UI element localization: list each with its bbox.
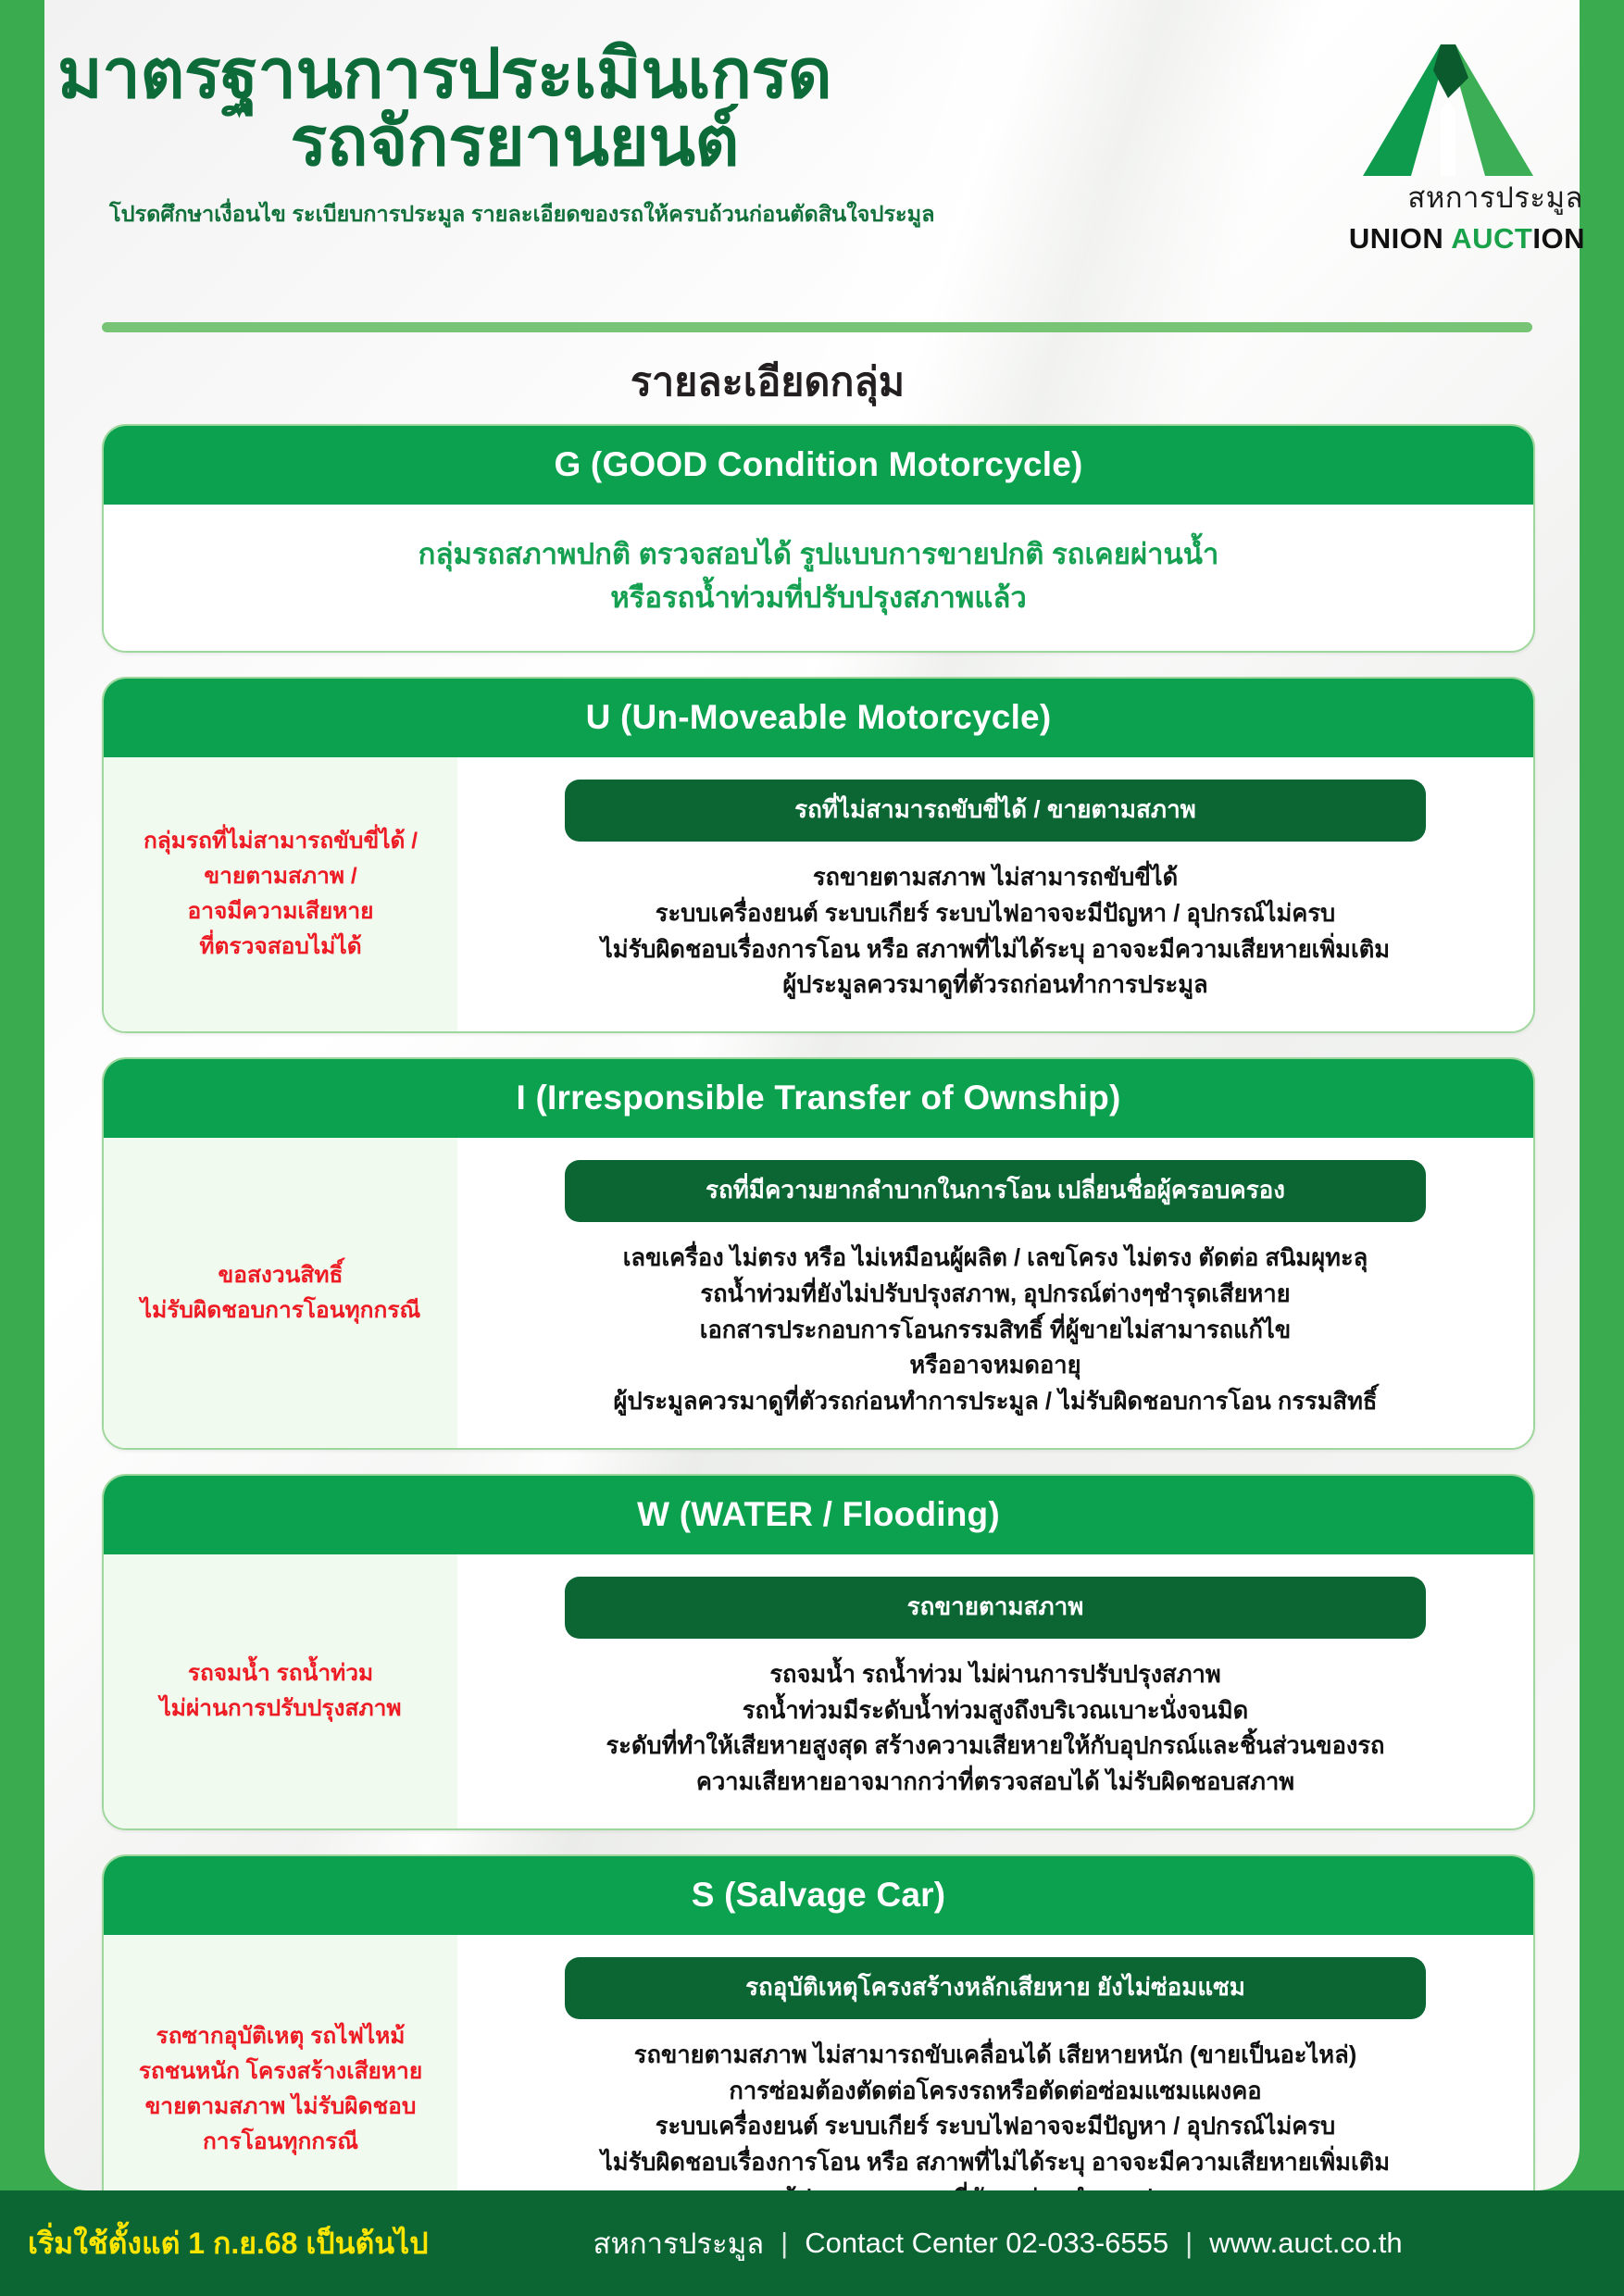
detail-line: ผู้ประมูลควรมาดูที่ตัวรถก่อนทำการประมูล …	[480, 1384, 1511, 1420]
summary-line: การโอนทุกกรณี	[139, 2125, 422, 2160]
grade-card-w: W (WATER / Flooding)รถจมน้ำ รถน้ำท่วมไม่…	[102, 1474, 1535, 1830]
grade-card-body: กลุ่มรถที่ไม่สามารถขับขี่ได้ /ขายตามสภาพ…	[104, 757, 1533, 1031]
detail-line: เอกสารประกอบการโอนกรรมสิทธิ์ ที่ผู้ขายไม…	[480, 1313, 1511, 1349]
logo-en-ion: ION	[1532, 222, 1585, 255]
footer-brand: สหการประมูล	[593, 2220, 765, 2266]
title-block: มาตรฐานการประเมินเกรด รถจักรยานยนต์ โปรด…	[57, 31, 935, 231]
detail-line: ระบบเครื่องยนต์ ระบบเกียร์ ระบบไฟอาจจะมี…	[480, 896, 1511, 932]
detail-line: หรืออาจหมดอายุ	[480, 1348, 1511, 1384]
description-line: กลุ่มรถสภาพปกติ ตรวจสอบได้ รูปแบบการขายป…	[159, 532, 1478, 576]
summary-text: รถจมน้ำ รถน้ำท่วมไม่ผ่านการปรับปรุงสภาพ	[159, 1656, 401, 1727]
header: มาตรฐานการประเมินเกรด รถจักรยานยนต์ โปรด…	[0, 0, 1624, 256]
grade-card-s: S (Salvage Car)รถซากอุบัติเหตุ รถไฟไหม้ร…	[102, 1854, 1535, 2247]
union-auction-logo: สหการประมูล UNION AUCTION	[1309, 31, 1587, 256]
grade-card-header: I (Irresponsible Transfer of Ownship)	[104, 1059, 1533, 1138]
page-title-line-1: มาตรฐานการประเมินเกรด	[57, 41, 935, 108]
grade-card-i: I (Irresponsible Transfer of Ownship)ขอส…	[102, 1057, 1535, 1450]
logo-thai-name: สหการประมูล	[1309, 174, 1587, 220]
detail-text: รถขายตามสภาพ ไม่สามารถขับขี่ได้ระบบเครื่…	[480, 860, 1511, 1004]
grade-card-summary-pane: กลุ่มรถที่ไม่สามารถขับขี่ได้ /ขายตามสภาพ…	[104, 757, 457, 1031]
grade-card-header: W (WATER / Flooding)	[104, 1476, 1533, 1554]
detail-line: รถขายตามสภาพ ไม่สามารถขับเคลื่อนได้ เสีย…	[480, 2038, 1511, 2074]
section-title: รายละเอียดกลุ่ม	[0, 350, 1535, 413]
summary-line: ไม่ผ่านการปรับปรุงสภาพ	[159, 1691, 401, 1727]
footer-separator-2: |	[1185, 2227, 1193, 2260]
summary-text: ขอสงวนสิทธิ์ไม่รับผิดชอบการโอนทุกกรณี	[141, 1258, 420, 1329]
grade-card-body: รถจมน้ำ รถน้ำท่วมไม่ผ่านการปรับปรุงสภาพร…	[104, 1554, 1533, 1828]
grade-card-header: S (Salvage Car)	[104, 1856, 1533, 1935]
footer-contact-block: สหการประมูล | Contact Center 02-033-6555…	[593, 2220, 1403, 2266]
page-subtitle: โปรดศึกษาเงื่อนไข ระเบียบการประมูล รายละ…	[57, 197, 935, 231]
detail-line: รถจมน้ำ รถน้ำท่วม ไม่ผ่านการปรับปรุงสภาพ	[480, 1657, 1511, 1693]
grade-card-body: ขอสงวนสิทธิ์ไม่รับผิดชอบการโอนทุกกรณีรถท…	[104, 1138, 1533, 1448]
detail-text: รถจมน้ำ รถน้ำท่วม ไม่ผ่านการปรับปรุงสภาพ…	[480, 1657, 1511, 1801]
detail-line: ไม่รับผิดชอบเรื่องการโอน หรือ สภาพที่ไม่…	[480, 932, 1511, 968]
summary-line: ขอสงวนสิทธิ์	[141, 1258, 420, 1293]
summary-text: กลุ่มรถที่ไม่สามารถขับขี่ได้ /ขายตามสภาพ…	[144, 824, 418, 965]
summary-line: ไม่รับผิดชอบการโอนทุกกรณี	[141, 1293, 420, 1329]
logo-en-name: UNION AUCTION	[1309, 222, 1587, 256]
summary-line: กลุ่มรถที่ไม่สามารถขับขี่ได้ /	[144, 824, 418, 859]
footer-effective-date: เริ่มใช้ตั้งแต่ 1 ก.ย.68 เป็นต้นไป	[0, 2220, 429, 2267]
detail-line: รถน้ำท่วมมีระดับน้ำท่วมสูงถึงบริเวณเบาะน…	[480, 1693, 1511, 1729]
detail-text: เลขเครื่อง ไม่ตรง หรือ ไม่เหมือนผู้ผลิต …	[480, 1241, 1511, 1420]
grade-card-detail-pane: รถขายตามสภาพรถจมน้ำ รถน้ำท่วม ไม่ผ่านการ…	[457, 1554, 1533, 1828]
summary-line: รถซากอุบัติเหตุ รถไฟไหม้	[139, 2019, 422, 2054]
grade-card-g: G (GOOD Condition Motorcycle)กลุ่มรถสภาพ…	[102, 424, 1535, 653]
detail-line: ระบบเครื่องยนต์ ระบบเกียร์ ระบบไฟอาจจะมี…	[480, 2109, 1511, 2145]
footer-separator-1: |	[781, 2227, 788, 2260]
grade-card-list: G (GOOD Condition Motorcycle)กลุ่มรถสภาพ…	[102, 424, 1535, 2271]
detail-line: ไม่รับผิดชอบเรื่องการโอน หรือ สภาพที่ไม่…	[480, 2145, 1511, 2181]
detail-line: รถขายตามสภาพ ไม่สามารถขับขี่ได้	[480, 860, 1511, 896]
detail-pill-label: รถที่ไม่สามารถขับขี่ได้ / ขายตามสภาพ	[565, 780, 1426, 842]
description-line: หรือรถน้ำท่วมที่ปรับปรุงสภาพแล้ว	[159, 576, 1478, 619]
detail-line: รถน้ำท่วมที่ยังไม่ปรับปรุงสภาพ, อุปกรณ์ต…	[480, 1277, 1511, 1313]
detail-line: เลขเครื่อง ไม่ตรง หรือ ไม่เหมือนผู้ผลิต …	[480, 1241, 1511, 1277]
summary-line: อาจมีความเสียหาย	[144, 894, 418, 930]
poster-root: มาตรฐานการประเมินเกรด รถจักรยานยนต์ โปรด…	[0, 0, 1624, 2296]
grade-card-header: G (GOOD Condition Motorcycle)	[104, 426, 1533, 505]
logo-en-union: UNION	[1349, 222, 1451, 255]
detail-line: ระดับที่ทำให้เสียหายสูงสุด สร้างความเสีย…	[480, 1728, 1511, 1765]
summary-line: รถจมน้ำ รถน้ำท่วม	[159, 1656, 401, 1691]
footer-contact-center: Contact Center 02-033-6555	[805, 2227, 1168, 2260]
grade-card-summary-pane: รถจมน้ำ รถน้ำท่วมไม่ผ่านการปรับปรุงสภาพ	[104, 1554, 457, 1828]
logo-en-auct: AUCT	[1451, 222, 1532, 255]
footer-website[interactable]: www.auct.co.th	[1209, 2227, 1402, 2260]
detail-line: การซ่อมต้องตัดต่อโครงรถหรือตัดต่อซ่อมแซม…	[480, 2074, 1511, 2110]
chevron-logo-icon	[1357, 41, 1539, 180]
summary-line: ที่ตรวจสอบไม่ได้	[144, 930, 418, 965]
detail-pill-label: รถขายตามสภาพ	[565, 1577, 1426, 1639]
detail-pill-label: รถที่มีความยากลำบากในการโอน เปลี่ยนชื่อผ…	[565, 1160, 1426, 1222]
grade-card-u: U (Un-Moveable Motorcycle)กลุ่มรถที่ไม่ส…	[102, 677, 1535, 1033]
grade-card-detail-pane: รถที่มีความยากลำบากในการโอน เปลี่ยนชื่อผ…	[457, 1138, 1533, 1448]
header-divider	[102, 322, 1532, 332]
summary-text: รถซากอุบัติเหตุ รถไฟไหม้รถชนหนัก โครงสร้…	[139, 2019, 422, 2160]
grade-card-summary-pane: ขอสงวนสิทธิ์ไม่รับผิดชอบการโอนทุกกรณี	[104, 1138, 457, 1448]
grade-card-header: U (Un-Moveable Motorcycle)	[104, 679, 1533, 757]
detail-line: ความเสียหายอาจมากกว่าที่ตรวจสอบได้ ไม่รั…	[480, 1765, 1511, 1801]
grade-card-description: กลุ่มรถสภาพปกติ ตรวจสอบได้ รูปแบบการขายป…	[104, 505, 1533, 651]
page-title-line-2: รถจักรยานยนต์	[57, 108, 935, 176]
footer: เริ่มใช้ตั้งแต่ 1 ก.ย.68 เป็นต้นไป สหการ…	[0, 2190, 1624, 2296]
detail-line: ผู้ประมูลควรมาดูที่ตัวรถก่อนทำการประมูล	[480, 967, 1511, 1004]
detail-pill-label: รถอุบัติเหตุโครงสร้างหลักเสียหาย ยังไม่ซ…	[565, 1957, 1426, 2019]
summary-line: ขายตามสภาพ /	[144, 859, 418, 894]
summary-line: ขายตามสภาพ ไม่รับผิดชอบ	[139, 2090, 422, 2125]
grade-card-body: กลุ่มรถสภาพปกติ ตรวจสอบได้ รูปแบบการขายป…	[104, 505, 1533, 651]
summary-line: รถชนหนัก โครงสร้างเสียหาย	[139, 2054, 422, 2090]
grade-card-detail-pane: รถที่ไม่สามารถขับขี่ได้ / ขายตามสภาพรถขา…	[457, 757, 1533, 1031]
